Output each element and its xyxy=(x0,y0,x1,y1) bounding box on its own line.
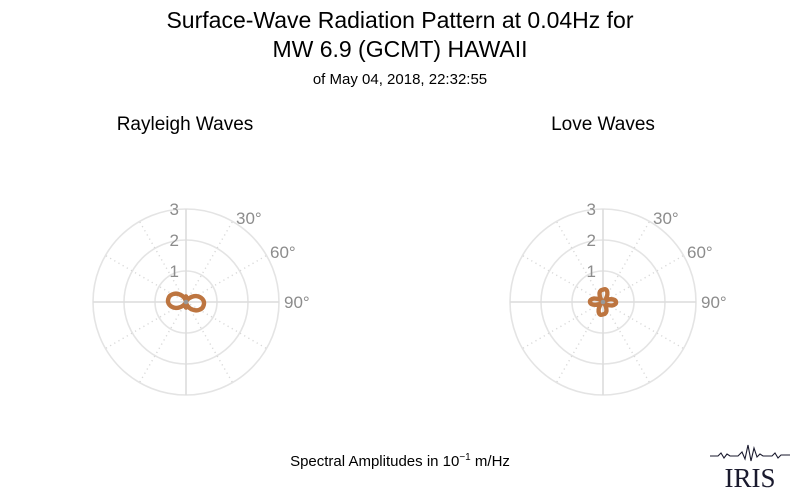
angular-grid-210 xyxy=(140,302,187,383)
radial-tick-label-2: 2 xyxy=(587,231,596,250)
rayleigh-plot-title: Rayleigh Waves xyxy=(85,114,285,136)
figure-title-block: Surface-Wave Radiation Pattern at 0.04Hz… xyxy=(0,6,800,90)
figure-caption: Spectral Amplitudes in 10−1 m/Hz xyxy=(0,452,800,470)
radial-tick-label-3: 3 xyxy=(587,200,596,219)
angular-grid-30 xyxy=(603,221,650,302)
love-polar-chart: 3 2 1 30° 60° 90° xyxy=(443,145,763,465)
angular-tick-label-90: 90° xyxy=(284,293,310,312)
angular-tick-label-60: 60° xyxy=(270,243,296,262)
rayleigh-polar-chart: 3 2 1 30° 60° 90° xyxy=(26,145,346,465)
angular-grid-150 xyxy=(603,302,650,383)
angular-tick-label-90: 90° xyxy=(701,293,727,312)
angular-grid-60 xyxy=(603,256,684,303)
angular-grid-150 xyxy=(186,302,233,383)
angular-grid-240 xyxy=(522,302,603,349)
title-line-1: Surface-Wave Radiation Pattern at 0.04Hz… xyxy=(0,6,800,35)
angular-tick-label-30: 30° xyxy=(236,209,262,228)
angular-tick-label-60: 60° xyxy=(687,243,713,262)
caption-suffix: m/Hz xyxy=(471,453,510,470)
iris-wordmark: IRIS xyxy=(708,465,792,492)
rayleigh-center-dot xyxy=(184,300,189,305)
angular-grid-330 xyxy=(140,221,187,302)
love-center-dot xyxy=(601,300,606,305)
angular-tick-label-30: 30° xyxy=(653,209,679,228)
caption-exponent: −1 xyxy=(459,452,470,463)
angular-grid-330 xyxy=(557,221,604,302)
angular-grid-30 xyxy=(186,221,233,302)
caption-prefix: Spectral Amplitudes in 10 xyxy=(290,453,459,470)
seismogram-icon xyxy=(708,443,792,463)
iris-logo: IRIS xyxy=(708,443,792,489)
radial-tick-label-3: 3 xyxy=(170,200,179,219)
love-svg: 3 2 1 30° 60° 90° xyxy=(443,145,763,465)
title-line-2: MW 6.9 (GCMT) HAWAII xyxy=(0,35,800,64)
angular-grid-120 xyxy=(603,302,684,349)
radial-tick-label-1: 1 xyxy=(587,262,596,281)
figure-subtitle: of May 04, 2018, 22:32:55 xyxy=(0,70,800,90)
radial-tick-label-1: 1 xyxy=(170,262,179,281)
angular-grid-210 xyxy=(557,302,604,383)
radial-tick-label-2: 2 xyxy=(170,231,179,250)
love-radial-tick-labels: 3 2 1 xyxy=(587,200,596,281)
rayleigh-radial-tick-labels: 3 2 1 xyxy=(170,200,179,281)
rayleigh-svg: 3 2 1 30° 60° 90° xyxy=(26,145,346,465)
love-plot-title: Love Waves xyxy=(503,114,703,136)
